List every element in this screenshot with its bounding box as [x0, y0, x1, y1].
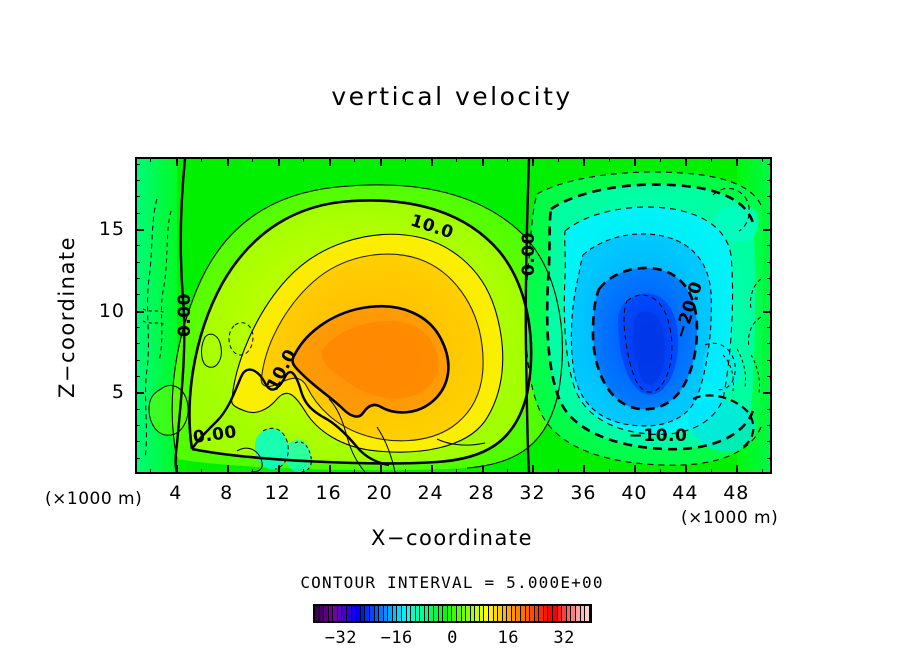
figure-canvas: vertical velocity	[0, 0, 904, 654]
x-tick-label: 32	[519, 482, 545, 504]
axis-tick	[736, 157, 738, 166]
axis-tick	[532, 465, 534, 474]
x-axis-title: X−coordinate	[0, 526, 904, 550]
x-tick-label: 24	[417, 482, 443, 504]
colorbar-tick-labels: −32−1601632	[0, 628, 904, 650]
x-tick-label: 4	[169, 482, 182, 504]
axis-tick	[150, 157, 151, 162]
axis-tick	[711, 157, 712, 162]
axis-tick	[767, 213, 772, 214]
axis-tick	[456, 157, 457, 162]
y-tick-label: 5	[95, 381, 125, 403]
z-axis-units: (×1000 m)	[45, 489, 142, 509]
axis-tick	[507, 469, 508, 474]
contour-label: 0.00	[519, 232, 539, 276]
axis-tick	[135, 441, 140, 442]
axis-tick	[609, 469, 610, 474]
x-tick-label: 12	[265, 482, 291, 504]
colorbar-tick-label: −16	[381, 628, 413, 648]
colorbar-tick-label: −32	[325, 628, 357, 648]
axis-tick	[303, 469, 304, 474]
contour-label: 0.00	[175, 293, 195, 337]
axis-tick	[767, 458, 772, 459]
axis-tick	[176, 157, 178, 166]
axis-tick	[135, 278, 140, 279]
axis-tick	[711, 469, 712, 474]
axis-tick	[135, 343, 140, 344]
x-tick-label: 20	[367, 482, 393, 504]
axis-tick	[583, 465, 585, 474]
axis-tick	[583, 157, 585, 166]
axis-tick	[763, 229, 772, 231]
colorbar-tick-label: 32	[553, 628, 574, 648]
colorbar-swatch	[585, 606, 590, 621]
axis-tick	[303, 157, 304, 162]
axis-tick	[634, 157, 636, 166]
axis-tick	[135, 458, 140, 459]
axis-tick	[558, 469, 559, 474]
contour-interval-text: CONTOUR INTERVAL = 5.000E+00	[0, 573, 904, 592]
contour-plot-area: 10.010.00.000.000.00−20.0−10.0	[135, 157, 772, 474]
axis-tick	[135, 180, 140, 181]
axis-tick	[135, 376, 140, 377]
axis-tick	[431, 157, 433, 166]
y-tick-label: 15	[95, 218, 125, 240]
axis-tick	[767, 278, 772, 279]
axis-tick	[405, 469, 406, 474]
axis-tick	[767, 164, 772, 165]
x-axis-units: (×1000 m)	[681, 508, 778, 528]
page-title: vertical velocity	[0, 82, 904, 111]
axis-tick	[767, 343, 772, 344]
axis-tick	[532, 157, 534, 166]
x-tick-label: 40	[621, 482, 647, 504]
axis-tick	[135, 392, 144, 394]
axis-tick	[278, 157, 280, 166]
axis-tick	[634, 465, 636, 474]
axis-tick	[227, 465, 229, 474]
axis-tick	[767, 360, 772, 361]
axis-tick	[380, 157, 382, 166]
axis-tick	[135, 245, 140, 246]
contour-label: −10.0	[629, 426, 688, 446]
axis-tick	[278, 465, 280, 474]
axis-tick	[135, 229, 144, 231]
axis-tick	[763, 311, 772, 313]
axis-tick	[482, 157, 484, 166]
axis-tick	[507, 157, 508, 162]
axis-tick	[201, 469, 202, 474]
axis-tick	[763, 392, 772, 394]
axis-tick	[150, 469, 151, 474]
axis-tick	[762, 469, 763, 474]
axis-tick	[135, 294, 140, 295]
axis-tick	[135, 262, 140, 263]
axis-tick	[135, 164, 140, 165]
axis-tick	[135, 360, 140, 361]
axis-tick	[329, 157, 331, 166]
x-tick-label: 36	[570, 482, 596, 504]
y-axis-title: Z−coordinate	[55, 222, 79, 412]
axis-tick	[767, 425, 772, 426]
axis-tick	[609, 157, 610, 162]
colorbar-tick-label: 0	[447, 628, 458, 648]
axis-tick	[660, 469, 661, 474]
axis-tick	[329, 465, 331, 474]
axis-tick	[767, 196, 772, 197]
axis-tick	[135, 425, 140, 426]
axis-tick	[685, 465, 687, 474]
x-tick-label: 28	[468, 482, 494, 504]
axis-tick	[762, 157, 763, 162]
axis-tick	[431, 465, 433, 474]
x-tick-label: 44	[672, 482, 698, 504]
axis-tick	[135, 311, 144, 313]
x-tick-label: 8	[220, 482, 233, 504]
axis-tick	[767, 245, 772, 246]
axis-tick	[135, 409, 140, 410]
axis-tick	[354, 157, 355, 162]
axis-tick	[252, 157, 253, 162]
axis-tick	[405, 157, 406, 162]
axis-tick	[767, 262, 772, 263]
colorbar	[313, 604, 592, 623]
axis-tick	[380, 465, 382, 474]
axis-tick	[767, 441, 772, 442]
axis-tick	[201, 157, 202, 162]
axis-tick	[660, 157, 661, 162]
axis-tick	[456, 469, 457, 474]
axis-tick	[736, 465, 738, 474]
axis-tick	[767, 327, 772, 328]
axis-tick	[135, 213, 140, 214]
axis-tick	[227, 157, 229, 166]
axis-tick	[252, 469, 253, 474]
colorbar-tick-label: 16	[498, 628, 519, 648]
axis-tick	[685, 157, 687, 166]
axis-tick	[767, 294, 772, 295]
x-tick-label: 16	[316, 482, 342, 504]
axis-tick	[176, 465, 178, 474]
axis-tick	[767, 180, 772, 181]
x-tick-label: 48	[723, 482, 749, 504]
y-tick-label: 10	[95, 300, 125, 322]
axis-tick	[558, 157, 559, 162]
axis-tick	[482, 465, 484, 474]
axis-tick	[767, 409, 772, 410]
axis-tick	[767, 376, 772, 377]
colorbar-swatches	[315, 606, 590, 621]
axis-tick	[354, 469, 355, 474]
axis-tick	[135, 196, 140, 197]
axis-tick	[135, 327, 140, 328]
